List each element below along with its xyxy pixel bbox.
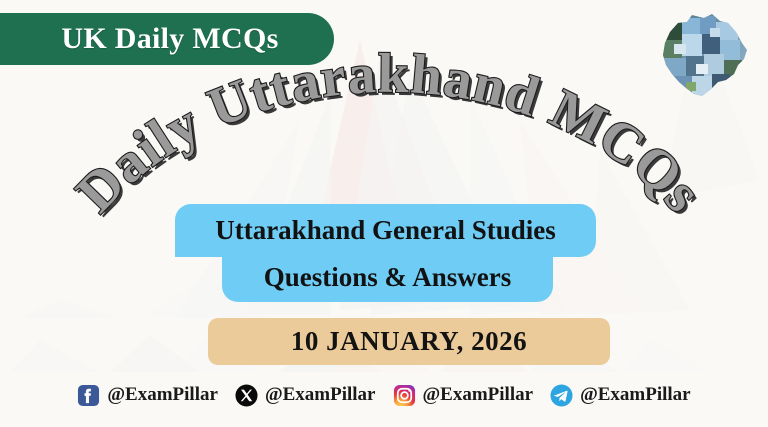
social-link-instagram[interactable]: @ExamPillar xyxy=(393,384,534,407)
headline-line2: Questions & Answers xyxy=(264,264,512,291)
social-links-bar: @ExamPillar @ExamPillar xyxy=(0,378,768,412)
x-handle: @ExamPillar xyxy=(265,384,376,406)
telegram-icon[interactable] xyxy=(550,384,573,407)
poster-canvas: UK Daily MCQs xyxy=(0,0,768,427)
instagram-icon[interactable] xyxy=(393,384,416,407)
instagram-handle: @ExamPillar xyxy=(423,384,534,406)
headline-box-line2: Questions & Answers xyxy=(222,252,553,302)
facebook-icon[interactable] xyxy=(77,384,100,407)
uttarakhand-map-logo xyxy=(652,10,756,105)
badge-label: UK Daily MCQs xyxy=(55,22,278,56)
headline-box-line1: Uttarakhand General Studies xyxy=(175,204,596,257)
social-link-x[interactable]: @ExamPillar xyxy=(235,384,376,407)
map-logo-svg xyxy=(652,10,756,105)
date-label: 10 JANUARY, 2026 xyxy=(291,326,527,357)
headline-line1: Uttarakhand General Studies xyxy=(215,217,556,244)
x-twitter-icon[interactable] xyxy=(235,384,258,407)
facebook-handle: @ExamPillar xyxy=(107,384,218,406)
social-link-telegram[interactable]: @ExamPillar xyxy=(550,384,691,407)
telegram-handle: @ExamPillar xyxy=(580,384,691,406)
uk-daily-mcqs-badge: UK Daily MCQs xyxy=(0,13,334,65)
social-link-facebook[interactable]: @ExamPillar xyxy=(77,384,218,407)
date-ribbon: 10 JANUARY, 2026 xyxy=(208,318,610,365)
